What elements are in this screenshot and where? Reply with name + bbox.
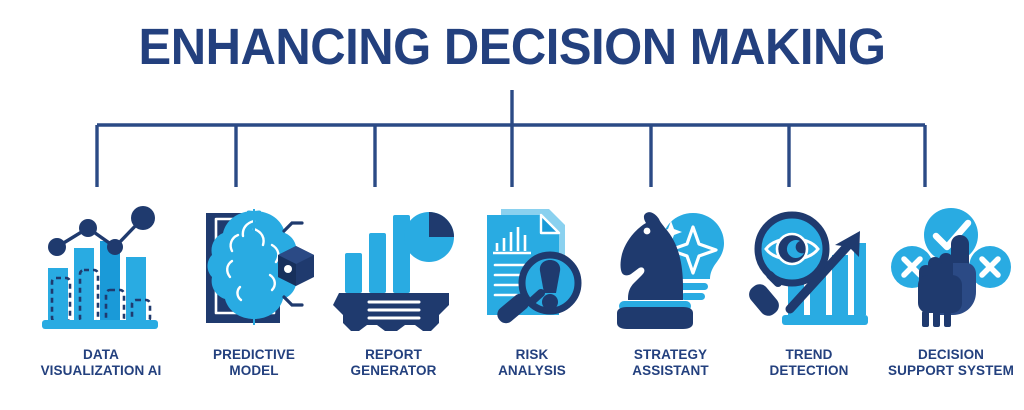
brain-document-cube-icon	[192, 205, 316, 331]
item-risk-analysis[interactable]: RISK ANALYSIS	[463, 196, 601, 410]
label-line-1: REPORT	[365, 347, 422, 362]
icon-decision-support-system	[883, 196, 1019, 331]
label-strategy-assistant: STRATEGY ASSISTANT	[591, 347, 751, 378]
label-line-2: SUPPORT SYSTEM	[871, 363, 1024, 379]
label-decision-support-system: DECISION SUPPORT SYSTEM	[871, 347, 1024, 378]
label-report-generator: REPORT GENERATOR	[314, 347, 474, 378]
item-report-generator[interactable]: REPORT GENERATOR	[324, 196, 463, 410]
item-strategy-assistant[interactable]: STRATEGY ASSISTANT	[601, 196, 740, 410]
icon-strategy-assistant	[603, 196, 739, 331]
icon-predictive-model	[186, 196, 322, 331]
icon-trend-detection	[741, 196, 877, 331]
item-decision-support-system[interactable]: DECISION SUPPORT SYSTEM	[878, 196, 1024, 410]
eye-magnifier-growth-arrow-icon	[748, 205, 870, 331]
bar-chart-line-graph-icon	[38, 205, 164, 331]
label-data-visualization-ai: DATA VISUALIZATION AI	[21, 347, 181, 378]
label-line-1: TREND	[786, 347, 833, 362]
item-predictive-model[interactable]: PREDICTIVE MODEL	[184, 196, 324, 410]
icon-report-generator	[326, 196, 462, 331]
label-line-1: STRATEGY	[634, 347, 707, 362]
document-magnifier-alert-icon	[471, 205, 593, 331]
infographic-banner: ENHANCING DECISION MAKING	[0, 0, 1024, 410]
chess-knight-lightbulb-icon	[611, 205, 731, 331]
icon-data-visualization-ai	[33, 196, 169, 331]
label-line-2: DETECTION	[729, 363, 889, 379]
label-line-1: DECISION	[918, 347, 984, 362]
label-line-2: GENERATOR	[314, 363, 474, 379]
label-line-2: VISUALIZATION AI	[21, 363, 181, 379]
hand-check-cross-icon	[890, 205, 1012, 331]
label-line-2: ASSISTANT	[591, 363, 751, 379]
item-data-visualization-ai[interactable]: DATA VISUALIZATION AI	[18, 196, 184, 410]
label-trend-detection: TREND DETECTION	[729, 347, 889, 378]
label-risk-analysis: RISK ANALYSIS	[452, 347, 612, 378]
label-predictive-model: PREDICTIVE MODEL	[174, 347, 334, 378]
item-trend-detection[interactable]: TREND DETECTION	[740, 196, 878, 410]
label-line-2: ANALYSIS	[452, 363, 612, 379]
bars-pie-chart-report-icon	[333, 205, 455, 331]
label-line-1: RISK	[516, 347, 549, 362]
label-line-1: PREDICTIVE	[213, 347, 295, 362]
icon-risk-analysis	[464, 196, 600, 331]
label-line-1: DATA	[83, 347, 119, 362]
items-row: DATA VISUALIZATION AI	[0, 196, 1024, 410]
label-line-2: MODEL	[174, 363, 334, 379]
page-title: ENHANCING DECISION MAKING	[20, 18, 1003, 76]
